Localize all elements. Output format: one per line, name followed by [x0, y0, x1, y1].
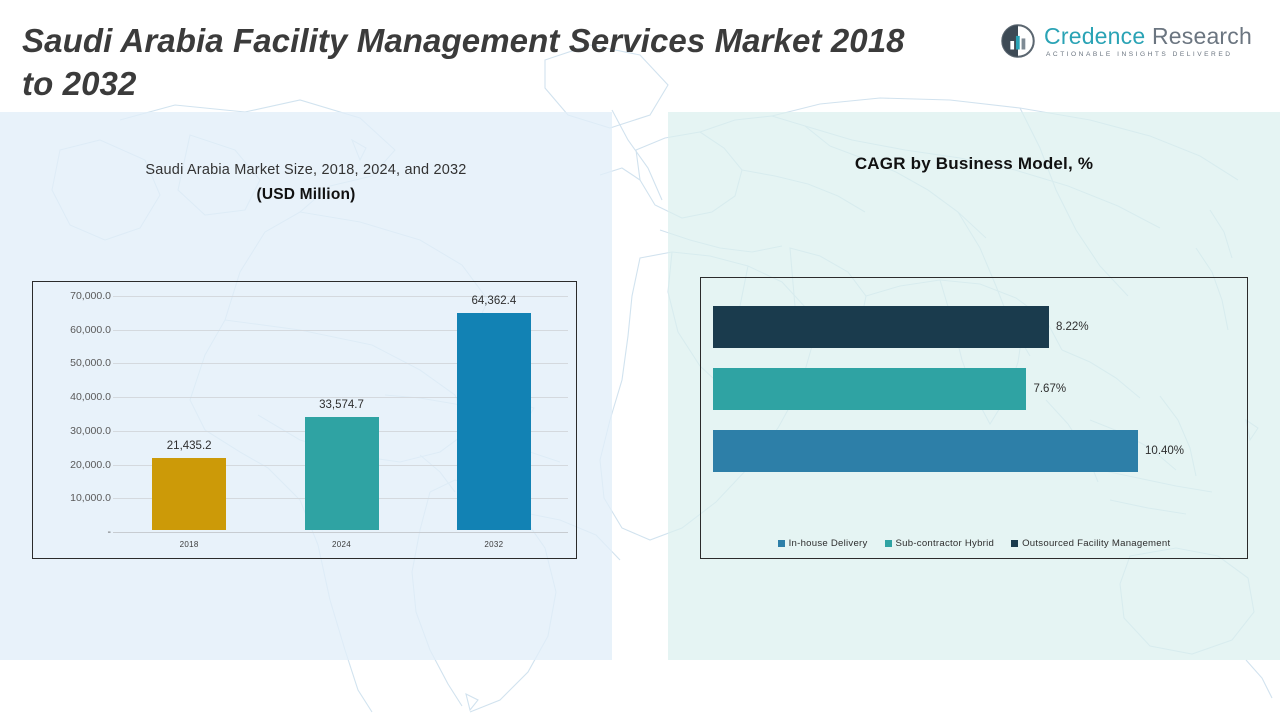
left-chart-subtitle: Saudi Arabia Market Size, 2018, 2024, an…: [0, 162, 612, 178]
left-chart-units: (USD Million): [0, 186, 612, 204]
logo-tagline: Actionable Insights Delivered: [1046, 51, 1252, 58]
logo-wordmark: Credence Research: [1044, 24, 1252, 48]
x-axis-category-label: 2024: [332, 540, 351, 549]
legend-item[interactable]: Sub-contractor Hybrid: [885, 538, 995, 549]
header: Saudi Arabia Facility Management Service…: [0, 0, 1280, 112]
legend-item[interactable]: In-house Delivery: [778, 538, 868, 549]
y-axis-tick-label: -: [108, 526, 112, 538]
infographic-root: Saudi Arabia Facility Management Service…: [0, 0, 1280, 720]
x-axis-category-label: 2032: [484, 540, 503, 549]
y-axis-tick-label: 30,000.0: [70, 425, 111, 437]
y-axis-tick-label: 10,000.0: [70, 492, 111, 504]
market-size-column-chart: -10,000.020,000.030,000.040,000.050,000.…: [33, 282, 576, 558]
right-chart-title: CAGR by Business Model, %: [668, 154, 1280, 174]
column-value-label: 33,574.7: [319, 399, 364, 411]
page-title: Saudi Arabia Facility Management Service…: [22, 20, 942, 106]
bar-chart-circle-icon: [1001, 24, 1035, 58]
left-chart-frame: -10,000.020,000.030,000.040,000.050,000.…: [32, 281, 577, 559]
y-axis-tick-label: 50,000.0: [70, 357, 111, 369]
horizontal-bar[interactable]: [713, 430, 1138, 472]
y-axis-tick-label: 40,000.0: [70, 391, 111, 403]
y-axis-tick-label: 20,000.0: [70, 459, 111, 471]
y-axis-ticks: -10,000.020,000.030,000.040,000.050,000.…: [39, 282, 111, 558]
cagr-bar-chart: 8.22%7.67%10.40%: [701, 278, 1247, 558]
legend-label: Sub-contractor Hybrid: [896, 538, 995, 549]
legend-swatch-icon: [778, 540, 785, 547]
column-bar[interactable]: [457, 313, 531, 530]
logo-name-credence: Credence: [1044, 23, 1145, 49]
column-value-label: 21,435.2: [167, 440, 212, 452]
x-axis-line: [113, 532, 568, 533]
y-axis-tick-label: 60,000.0: [70, 324, 111, 336]
bar-value-label: 7.67%: [1033, 383, 1066, 395]
column-bar[interactable]: [305, 417, 379, 530]
legend-swatch-icon: [885, 540, 892, 547]
legend-label: Outsourced Facility Management: [1022, 538, 1170, 549]
brand-logo: Credence Research Actionable Insights De…: [1001, 24, 1252, 58]
cagr-legend: In-house DeliverySub-contractor HybridOu…: [701, 538, 1247, 549]
legend-label: In-house Delivery: [789, 538, 868, 549]
column-value-label: 64,362.4: [471, 295, 516, 307]
bar-value-label: 10.40%: [1145, 445, 1184, 457]
logo-name-research: Research: [1152, 23, 1252, 49]
bar-value-label: 8.22%: [1056, 321, 1089, 333]
legend-item[interactable]: Outsourced Facility Management: [1011, 538, 1170, 549]
x-axis-category-label: 2018: [180, 540, 199, 549]
legend-swatch-icon: [1011, 540, 1018, 547]
horizontal-bar[interactable]: [713, 368, 1026, 410]
column-bar[interactable]: [152, 458, 226, 530]
y-axis-tick-label: 70,000.0: [70, 290, 111, 302]
horizontal-bar[interactable]: [713, 306, 1049, 348]
right-chart-frame: 8.22%7.67%10.40% In-house DeliverySub-co…: [700, 277, 1248, 559]
